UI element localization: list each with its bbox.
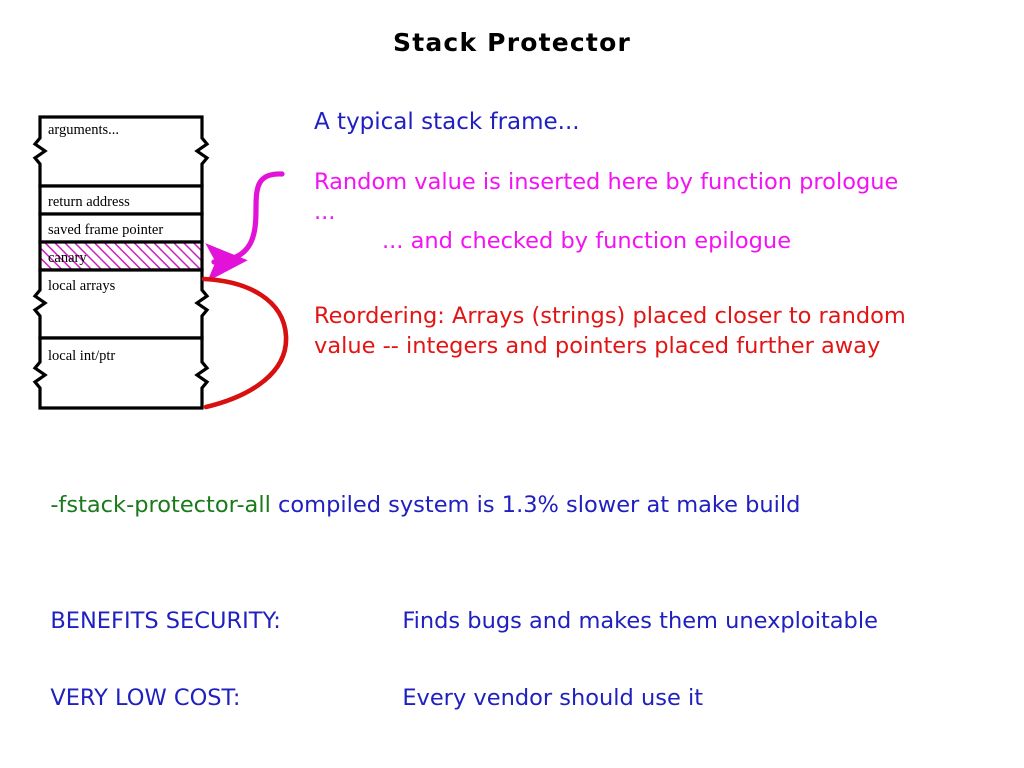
stack-row-return-address: return address <box>40 186 202 214</box>
stack-row-label: canary <box>48 250 87 266</box>
random-value-line-3: ... and checked by function epilogue <box>314 227 914 257</box>
summary-value: Every vendor should use it <box>402 685 703 711</box>
random-value-line-1: Random value is inserted here by functio… <box>314 169 792 195</box>
stack-row-label: saved frame pointer <box>48 222 163 238</box>
summary-label: BENEFITS SECURITY: <box>50 607 402 636</box>
stack-row-arguments: arguments... <box>35 117 207 186</box>
stack-row-label: return address <box>48 194 130 210</box>
summary-label: VERY LOW COST: <box>50 684 402 713</box>
summary-row-benefits: BENEFITS SECURITY:Finds bugs and makes t… <box>36 578 878 637</box>
callout-random-value: Random value is inserted here by functio… <box>314 168 914 257</box>
stack-row-saved-frame-pointer: saved frame pointer <box>40 214 202 242</box>
stack-row-label: local int/ptr <box>48 348 115 364</box>
stack-row-local-int-ptr: local int/ptr <box>35 338 207 408</box>
summary-value: Finds bugs and makes them unexploitable <box>402 608 878 634</box>
stack-row-label: local arrays <box>48 278 116 294</box>
callout-typical-frame: A typical stack frame... <box>314 108 580 138</box>
stack-row-canary: canary <box>40 242 202 270</box>
reordering-line-3: placed further away <box>654 333 880 359</box>
reordering-line-1: Reordering: Arrays (strings) placed clos… <box>314 303 782 329</box>
perf-line: -fstack-protector-all compiled system is… <box>36 462 800 521</box>
canary-pointer-arrow <box>186 160 306 285</box>
stack-row-local-arrays: local arrays <box>35 270 207 338</box>
stack-row-label: arguments... <box>48 122 119 138</box>
compiler-flag: -fstack-protector-all <box>50 492 271 518</box>
callout-reordering: Reordering: Arrays (strings) placed clos… <box>314 302 924 362</box>
page-title: Stack Protector <box>0 28 1024 57</box>
perf-line-rest: compiled system is 1.3% slower at make b… <box>271 492 801 518</box>
summary-row-cost: VERY LOW COST:Every vendor should use it <box>36 655 703 714</box>
reorder-bracket <box>196 268 326 418</box>
